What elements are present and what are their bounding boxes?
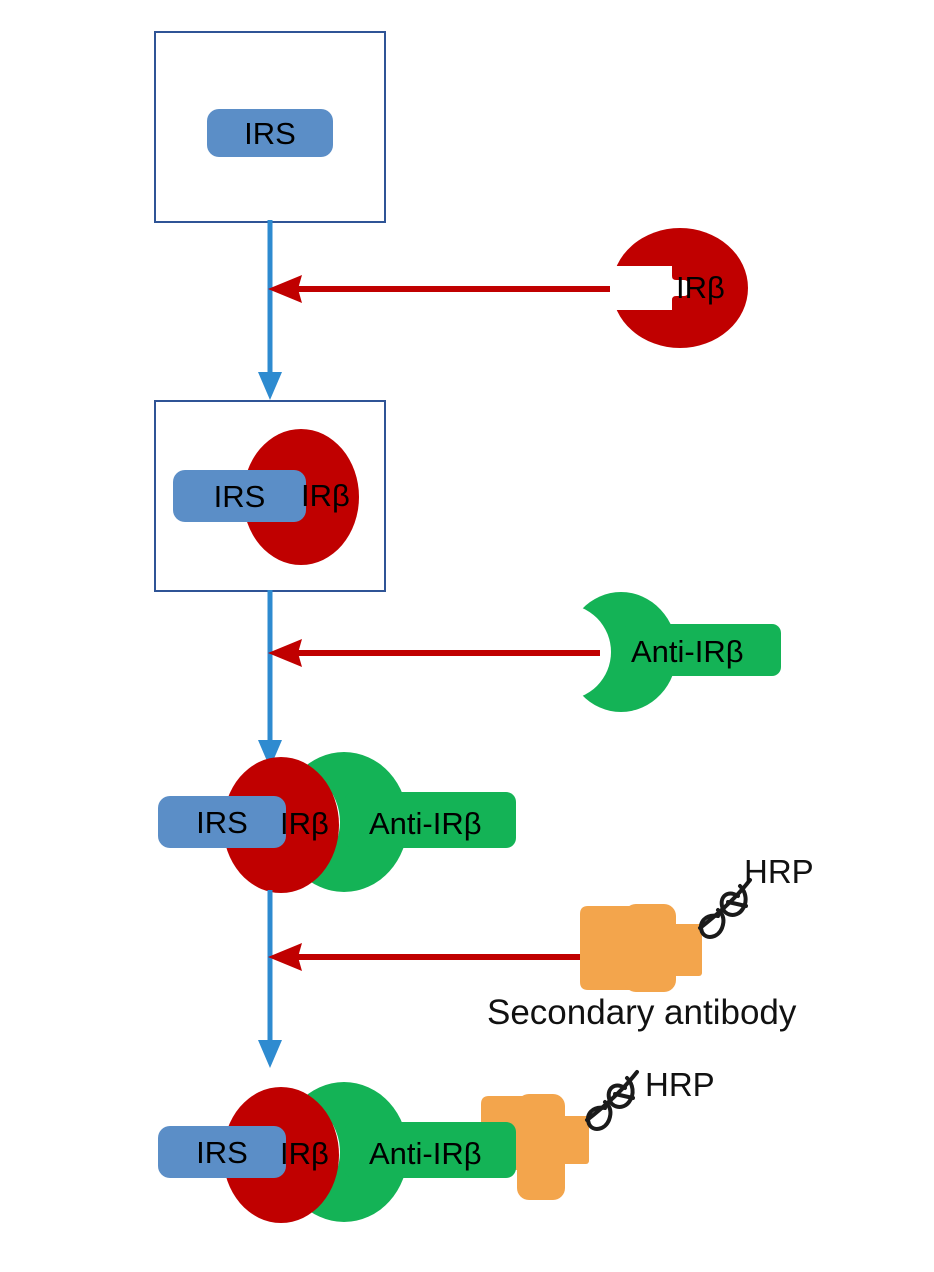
reagent-arrow-1	[262, 268, 612, 310]
irs-chip-step-4: IRS	[158, 1126, 286, 1178]
reagent-anti-irbeta: Anti-IRβ	[565, 592, 785, 712]
secondary-antibody-label: Secondary antibody	[487, 995, 796, 1030]
irs-chip-step-1: IRS	[207, 109, 333, 157]
secondary-antibody-shape-step-4	[475, 1088, 775, 1218]
irbeta-reagent-label: IRβ	[676, 272, 725, 303]
reagent-arrow-2	[262, 632, 602, 674]
irbeta-label-step-4: IRβ	[280, 1138, 329, 1169]
anti-irbeta-label-step-3: Anti-IRβ	[369, 808, 482, 839]
irs-label: IRS	[196, 1137, 248, 1168]
flow-arrow-1	[250, 220, 310, 402]
anti-irbeta-label-step-4: Anti-IRβ	[369, 1138, 482, 1169]
hrp-squiggle-icon	[587, 1072, 637, 1129]
flow-arrow-3	[250, 890, 310, 1070]
hrp-label-step-4: HRP	[645, 1068, 715, 1101]
hrp-label-reagent: HRP	[744, 855, 814, 888]
irs-label: IRS	[196, 807, 248, 838]
flow-arrow-2	[250, 590, 310, 770]
reagent-arrow-3	[262, 936, 592, 978]
diagram-canvas: IRS IRβ IRS IRβ	[0, 0, 934, 1272]
irs-chip-step-2: IRS	[173, 470, 306, 522]
irs-chip-step-3: IRS	[158, 796, 286, 848]
irbeta-label-step-3: IRβ	[280, 808, 329, 839]
reagent-irbeta: IRβ	[610, 228, 750, 348]
irbeta-label-step-2: IRβ	[301, 480, 350, 511]
hrp-squiggle-icon	[700, 880, 750, 937]
irs-label: IRS	[244, 118, 296, 149]
anti-irbeta-reagent-label: Anti-IRβ	[631, 636, 744, 667]
irs-label: IRS	[214, 481, 266, 512]
